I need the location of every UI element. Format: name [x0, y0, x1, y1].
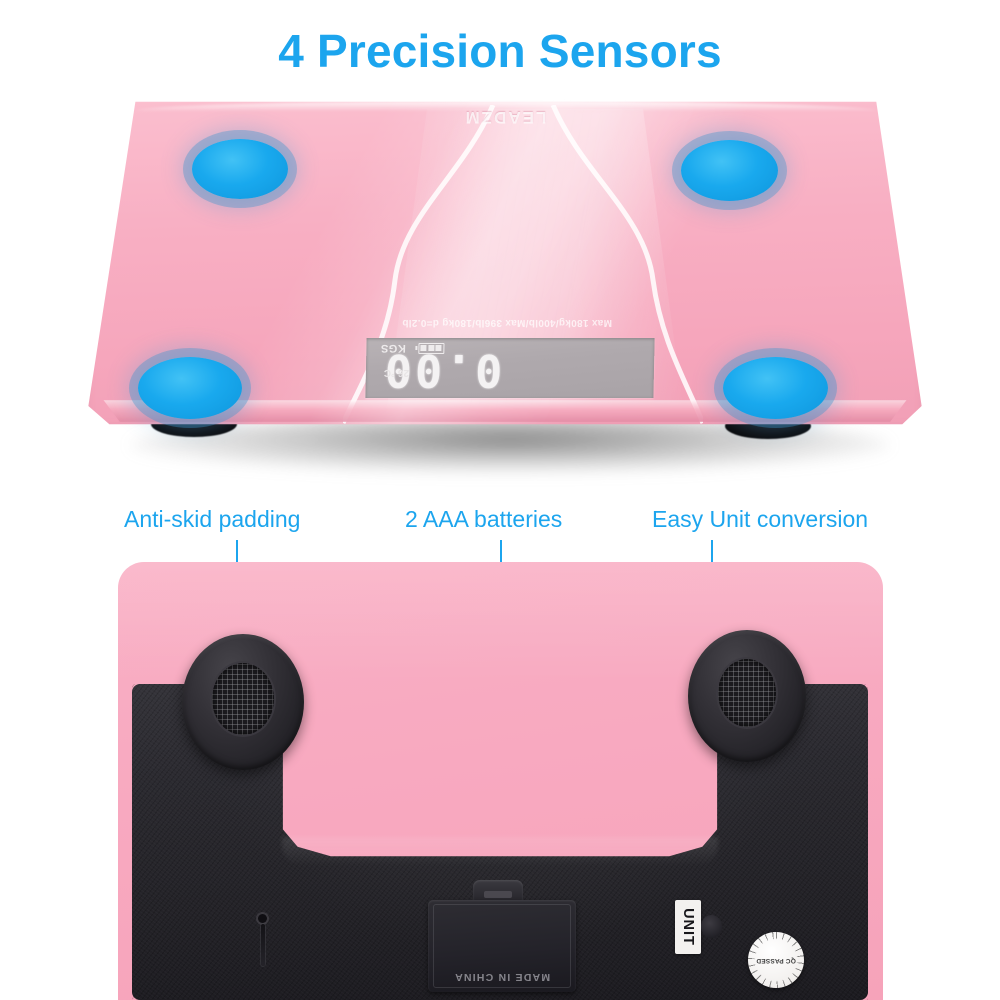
qc-sticker-text: QC PASSED [748, 956, 804, 964]
lcd-display: 0.00 26 °C KGS [365, 338, 654, 398]
callout-label-aaa-batteries: 2 AAA batteries [405, 505, 562, 533]
callout-label-unit-conversion: Easy Unit conversion [652, 505, 868, 533]
anti-skid-pad-left [182, 634, 304, 770]
unit-button-label: UNIT [675, 900, 701, 954]
capacity-spec-text: Max 180kg/400lb/Max 396lb/180kg d=0.2lb [347, 317, 667, 328]
anti-skid-pad-left-mesh [212, 663, 274, 735]
sensor-bottom-left [138, 357, 242, 419]
brand-logo: LEADZM [415, 107, 595, 127]
callout-label-anti-skid-padding: Anti-skid padding [124, 505, 300, 533]
product-feature-image: 4 Precision Sensors LEADZM Max 180kg/400… [0, 0, 1000, 1000]
battery-icon [418, 343, 444, 354]
page-title: 4 Precision Sensors [0, 24, 1000, 78]
battery-compartment-cover[interactable]: MADE IN CHINA [428, 900, 576, 992]
sensor-bottom-right [723, 357, 828, 419]
screw-hole [258, 914, 267, 923]
anti-skid-pad-right-mesh [718, 659, 776, 727]
housing-inner-rim [282, 837, 718, 867]
lcd-temperature: 26 °C [384, 367, 409, 378]
made-in-china-text: MADE IN CHINA [428, 971, 576, 983]
lcd-unit-label: KGS [380, 342, 406, 354]
screw-slot-channel [261, 924, 265, 966]
anti-skid-pad-right [688, 630, 806, 762]
lcd-inner: 0.00 26 °C KGS [365, 338, 654, 398]
sensor-top-right [681, 140, 778, 201]
qc-sticker: QC PASSED [748, 932, 804, 988]
scale-bottom-view: MADE IN CHINA UNIT QC PASSED [118, 562, 883, 1000]
sensor-top-left [192, 139, 288, 199]
unit-button[interactable] [701, 915, 722, 938]
unit-button-label-text: UNIT [680, 908, 696, 946]
scale-top-view: LEADZM Max 180kg/400lb/Max 396lb/180kg d… [85, 95, 925, 465]
